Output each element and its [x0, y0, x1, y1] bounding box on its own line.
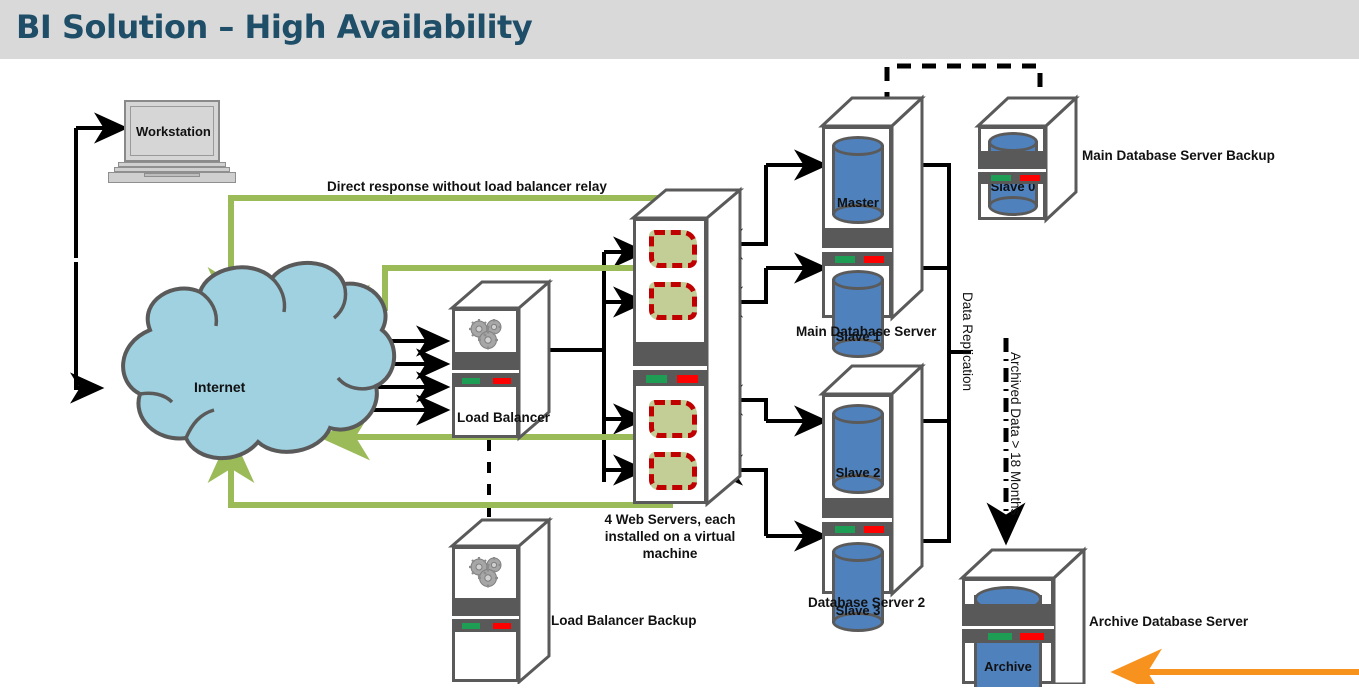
main-db-led-green [835, 256, 855, 263]
main-db-backup-band [978, 151, 1046, 169]
main-db-backup-led-green [991, 175, 1011, 181]
node-archive-database-server[interactable]: Archive [962, 578, 1054, 684]
lb-backup-led-green [462, 623, 480, 629]
node-main-database-server[interactable]: Master Slave 1 [822, 126, 892, 318]
node-workstation[interactable]: Workstation [106, 100, 238, 184]
vm-icon-4[interactable] [649, 452, 697, 490]
archive-band [962, 604, 1054, 626]
web-rack-led-green [646, 375, 667, 383]
db2-led-green [835, 526, 855, 533]
node-web-servers[interactable] [633, 218, 707, 504]
archive-database-server-label: Archive Database Server [1089, 614, 1248, 631]
db2-band [822, 498, 892, 518]
node-database-server-2[interactable]: Slave 2 Slave 3 [822, 394, 892, 594]
load-balancer-led-green [462, 378, 480, 384]
vm-shape [649, 400, 697, 438]
main-db-band [822, 228, 892, 248]
wire-loadbalancer-webservers [550, 252, 643, 482]
vm-shape [649, 230, 697, 268]
cylinder-top [832, 270, 884, 290]
db2-led-red [864, 526, 884, 533]
vm-shape [649, 452, 697, 490]
main-db-backup-label: Main Database Server Backup [1082, 148, 1275, 165]
internet-cloud-shape [123, 263, 394, 458]
vm-icon-2[interactable] [649, 282, 697, 320]
database-server-2-label: Database Server 2 [808, 595, 925, 612]
cylinder-top [832, 136, 884, 156]
main-db-backup-led-red [1020, 175, 1040, 181]
web-rack-band [633, 342, 707, 366]
annotation-data-replication: Data Replication [958, 292, 975, 391]
cylinder-top [832, 404, 884, 424]
disk-slave-1[interactable]: Slave 1 [832, 270, 884, 358]
diagram-canvas: BI Solution – High Availability [0, 0, 1359, 684]
node-load-balancer-backup[interactable] [452, 546, 519, 682]
archive-led-green [988, 633, 1012, 640]
workstation-trackpad [144, 173, 200, 177]
annotation-direct-response: Direct response without load balancer re… [327, 179, 607, 196]
cylinder-top [988, 132, 1038, 152]
load-balancer-led-red [493, 378, 511, 384]
vm-icon-3[interactable] [649, 400, 697, 438]
vm-icon-1[interactable] [649, 230, 697, 268]
disk-label: Archive [974, 659, 1042, 674]
disk-label: Master [832, 195, 884, 210]
lb-backup-band [452, 598, 519, 616]
load-balancer-band [452, 352, 519, 370]
cylinder-bottom [988, 196, 1038, 216]
internet-label: Internet [194, 379, 245, 397]
annotation-archived-data: Archived Data > 18 Months [1006, 352, 1023, 515]
disk-slave-2[interactable]: Slave 2 [832, 404, 884, 494]
node-main-db-backup[interactable]: Slave 0 [978, 126, 1046, 220]
gears-icon [466, 556, 508, 588]
gears-icon [466, 318, 508, 350]
load-balancer-backup-label: Load Balancer Backup [551, 613, 697, 630]
vm-shape [649, 282, 697, 320]
archive-led-red [1020, 633, 1044, 640]
main-db-led-red [864, 256, 884, 263]
web-rack-led-red [677, 375, 698, 383]
workstation-label: Workstation [136, 124, 211, 140]
cylinder-top [832, 542, 884, 562]
lb-backup-led-red [493, 623, 511, 629]
disk-master[interactable]: Master [832, 136, 884, 224]
disk-slave-3[interactable]: Slave 3 [832, 542, 884, 632]
main-database-server-label: Main Database Server [796, 324, 936, 341]
load-balancer-label: Load Balancer [457, 410, 550, 427]
web-servers-label: 4 Web Servers, each installed on a virtu… [600, 512, 740, 563]
disk-label: Slave 2 [832, 465, 884, 480]
